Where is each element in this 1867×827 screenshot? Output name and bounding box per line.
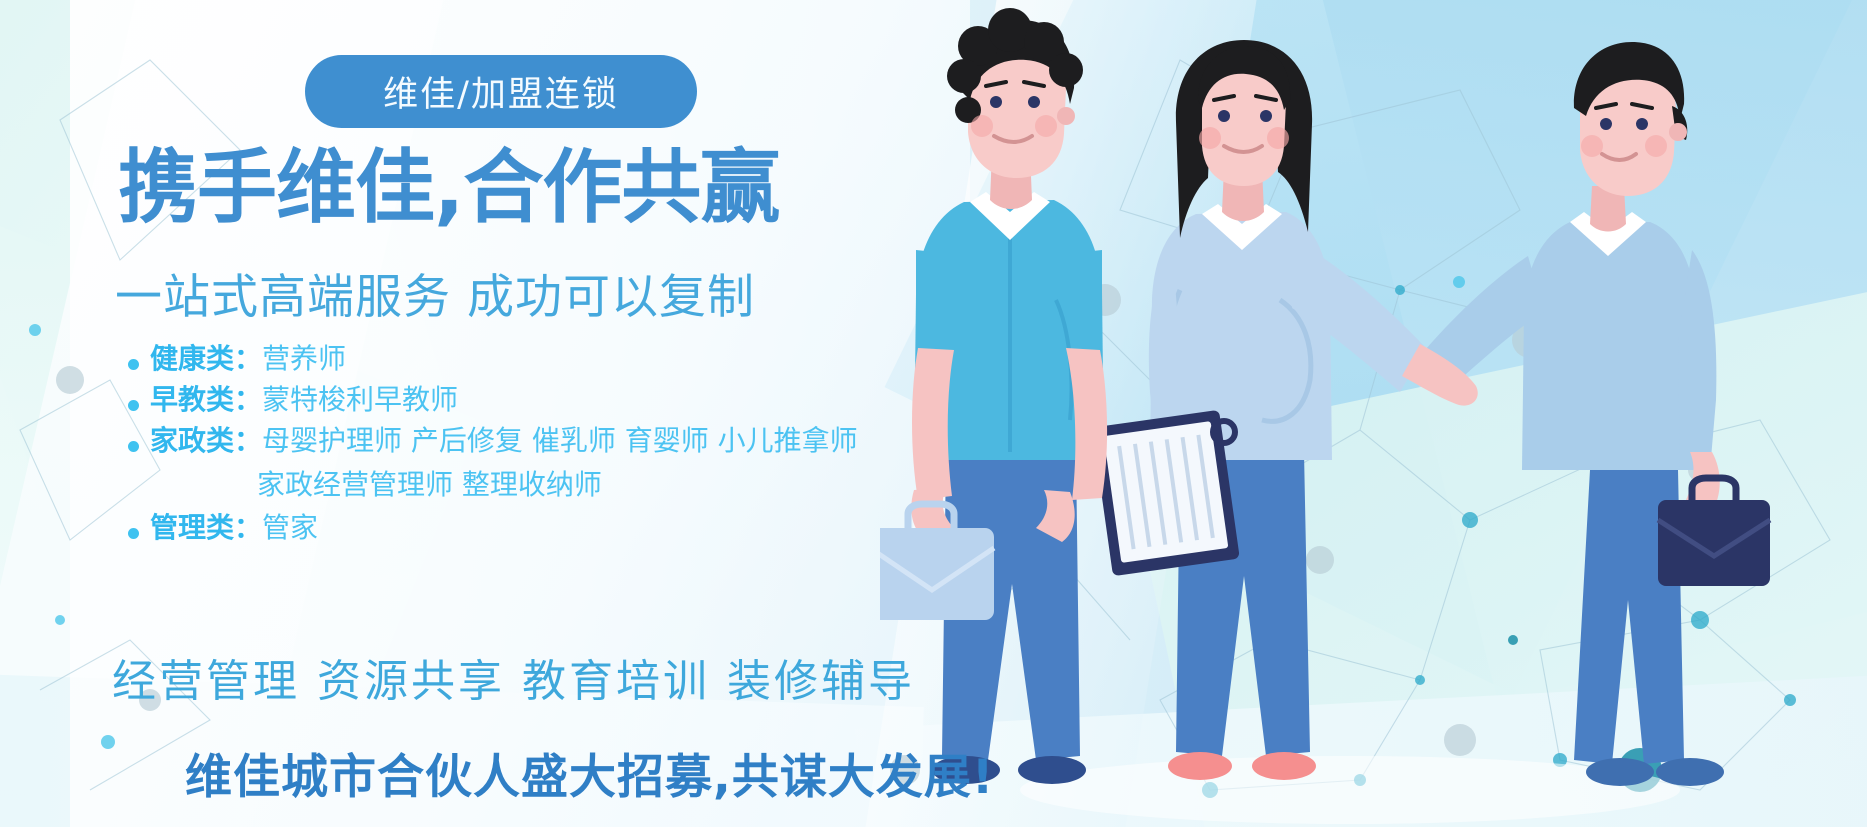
clipboard	[1092, 410, 1240, 576]
list-item: 健康类： 营养师	[128, 342, 968, 375]
category-value: 母婴护理师 产后修复 催乳师 育婴师 小儿推拿师	[262, 424, 858, 457]
category-value-continued: 家政经营管理师 整理收纳师	[257, 463, 968, 503]
services-line: 经营管理 资源共享 教育培训 装修辅导	[112, 645, 915, 709]
category-value: 管家	[262, 511, 318, 544]
brand-badge-label: 维佳/加盟连锁	[383, 66, 619, 117]
category-value: 蒙特梭利早教师	[262, 383, 458, 416]
bullet-dot-icon	[128, 359, 139, 370]
category-label: 家政类：	[150, 424, 262, 457]
bullet-dot-icon	[128, 400, 139, 411]
category-label: 管理类：	[150, 511, 262, 544]
people-illustration	[880, 0, 1867, 827]
category-list: 健康类： 营养师 早教类： 蒙特梭利早教师 家政类： 母婴护理师 产后修复 催乳…	[128, 342, 968, 552]
bullet-dot-icon	[128, 528, 139, 539]
subtitle: 一站式高端服务 成功可以复制	[115, 258, 755, 327]
banner-text-content: 维佳/加盟连锁 携手维佳,合作共赢 一站式高端服务 成功可以复制 健康类： 营养…	[0, 0, 1000, 827]
category-label: 健康类：	[150, 342, 262, 375]
call-to-action-line: 维佳城市合伙人盛大招募,共谋大发展!	[185, 738, 994, 807]
list-item: 管理类： 管家	[128, 511, 968, 544]
page-title: 携手维佳,合作共赢	[118, 148, 779, 228]
promo-banner: 维佳/加盟连锁 携手维佳,合作共赢 一站式高端服务 成功可以复制 健康类： 营养…	[0, 0, 1867, 827]
brand-badge[interactable]: 维佳/加盟连锁	[305, 55, 697, 128]
list-item: 家政类： 母婴护理师 产后修复 催乳师 育婴师 小儿推拿师	[128, 424, 968, 457]
figure-woman-center	[1092, 40, 1478, 780]
category-value: 营养师	[262, 342, 346, 375]
list-item: 早教类： 蒙特梭利早教师	[128, 383, 968, 416]
category-label: 早教类：	[150, 383, 262, 416]
figure-man-right	[1420, 42, 1770, 786]
bullet-dot-icon	[128, 441, 139, 452]
